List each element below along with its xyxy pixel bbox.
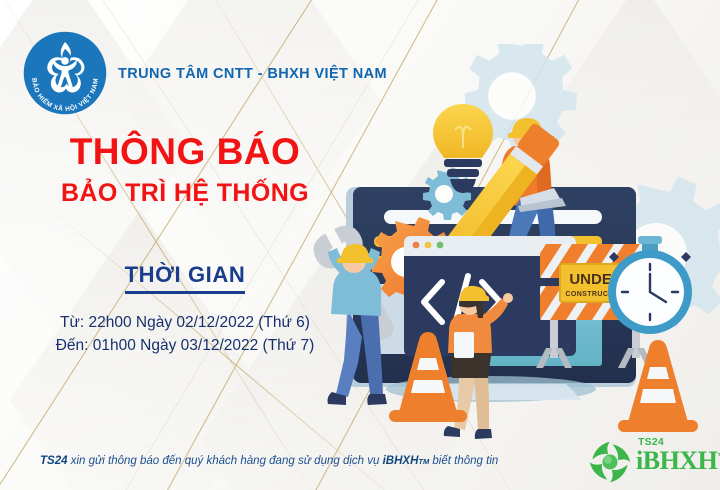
ibhxh-name: iBHXH™: [636, 446, 720, 476]
footer-brand: TS24: [40, 455, 68, 467]
footer-text-before: xin gửi thông báo đến quý khách hàng đan…: [68, 455, 383, 467]
footer-text-after: biết thông tin: [429, 455, 498, 467]
time-title: THỜI GIAN: [125, 262, 246, 294]
ibhxh-name-text: iBHXH: [636, 446, 717, 475]
footer-service-tm: TM: [418, 457, 429, 466]
footer-service: iBHXH: [383, 455, 419, 467]
announcement-banner: BẢO HIỂM XÃ HỘI VIỆT NAM TRUNG TÂM CNTT …: [0, 0, 720, 490]
bhxh-vietnam-seal-logo: BẢO HIỂM XÃ HỘI VIỆT NAM: [22, 30, 108, 116]
ibhxh-swirl-icon: [588, 440, 632, 484]
footer-note: TS24 xin gửi thông báo đến quý khách hàn…: [40, 455, 498, 467]
system-maintenance-illustration: UNDER CONSTRUCTION: [296, 44, 720, 444]
